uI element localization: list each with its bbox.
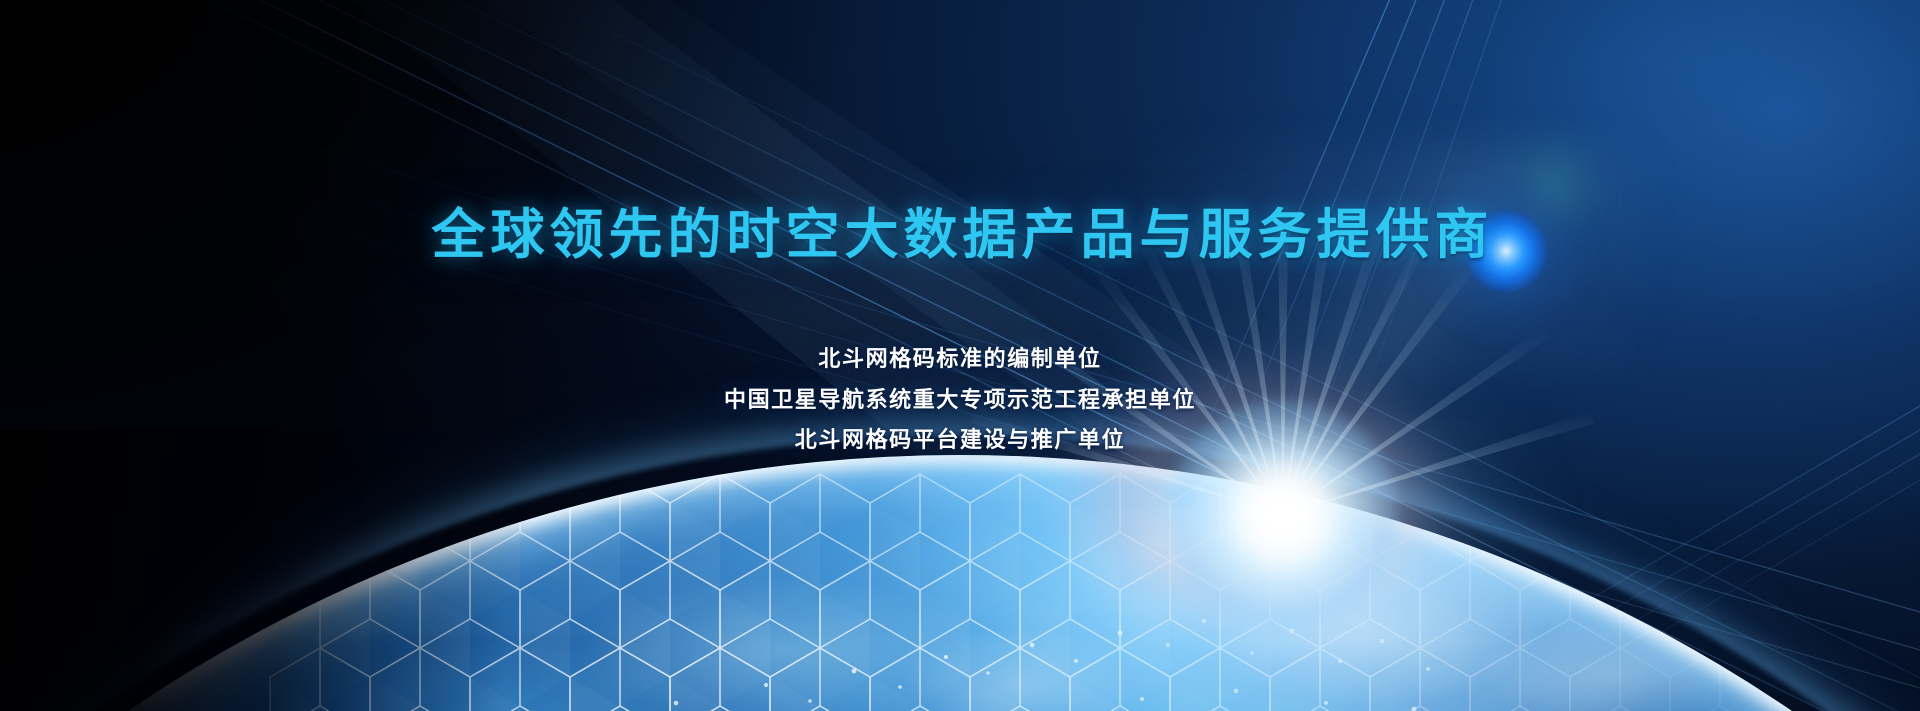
subtitle-line-3: 北斗网格码平台建设与推广单位 xyxy=(795,427,1125,453)
subtitle-line-2: 中国卫星导航系统重大专项示范工程承担单位 xyxy=(724,387,1196,413)
subtitle-list: 北斗网格码标准的编制单位 中国卫星导航系统重大专项示范工程承担单位 北斗网格码平… xyxy=(724,346,1196,454)
banner-copy: 全球领先的时空大数据产品与服务提供商 北斗网格码标准的编制单位 中国卫星导航系统… xyxy=(0,0,1920,711)
hero-banner: 全球领先的时空大数据产品与服务提供商 北斗网格码标准的编制单位 中国卫星导航系统… xyxy=(0,0,1920,711)
subtitle-line-1: 北斗网格码标准的编制单位 xyxy=(818,346,1101,372)
page-title: 全球领先的时空大数据产品与服务提供商 xyxy=(427,206,1494,265)
